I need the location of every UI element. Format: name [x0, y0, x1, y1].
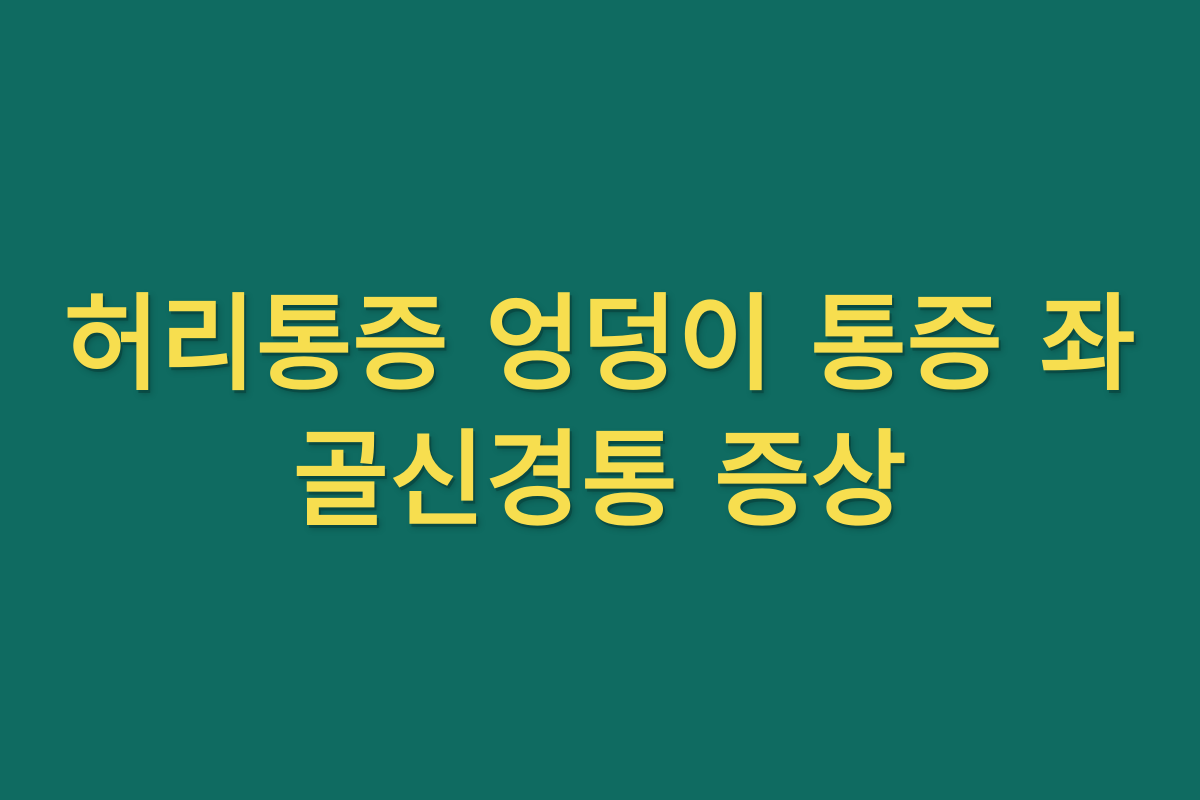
- headline-line-2: 골신경통 증상: [40, 412, 1160, 548]
- headline-line-1: 허리통증 엉덩이 통증 좌: [40, 276, 1160, 412]
- thumbnail-canvas: 허리통증 엉덩이 통증 좌 골신경통 증상: [0, 0, 1200, 800]
- headline-text-block: 허리통증 엉덩이 통증 좌 골신경통 증상: [40, 276, 1160, 548]
